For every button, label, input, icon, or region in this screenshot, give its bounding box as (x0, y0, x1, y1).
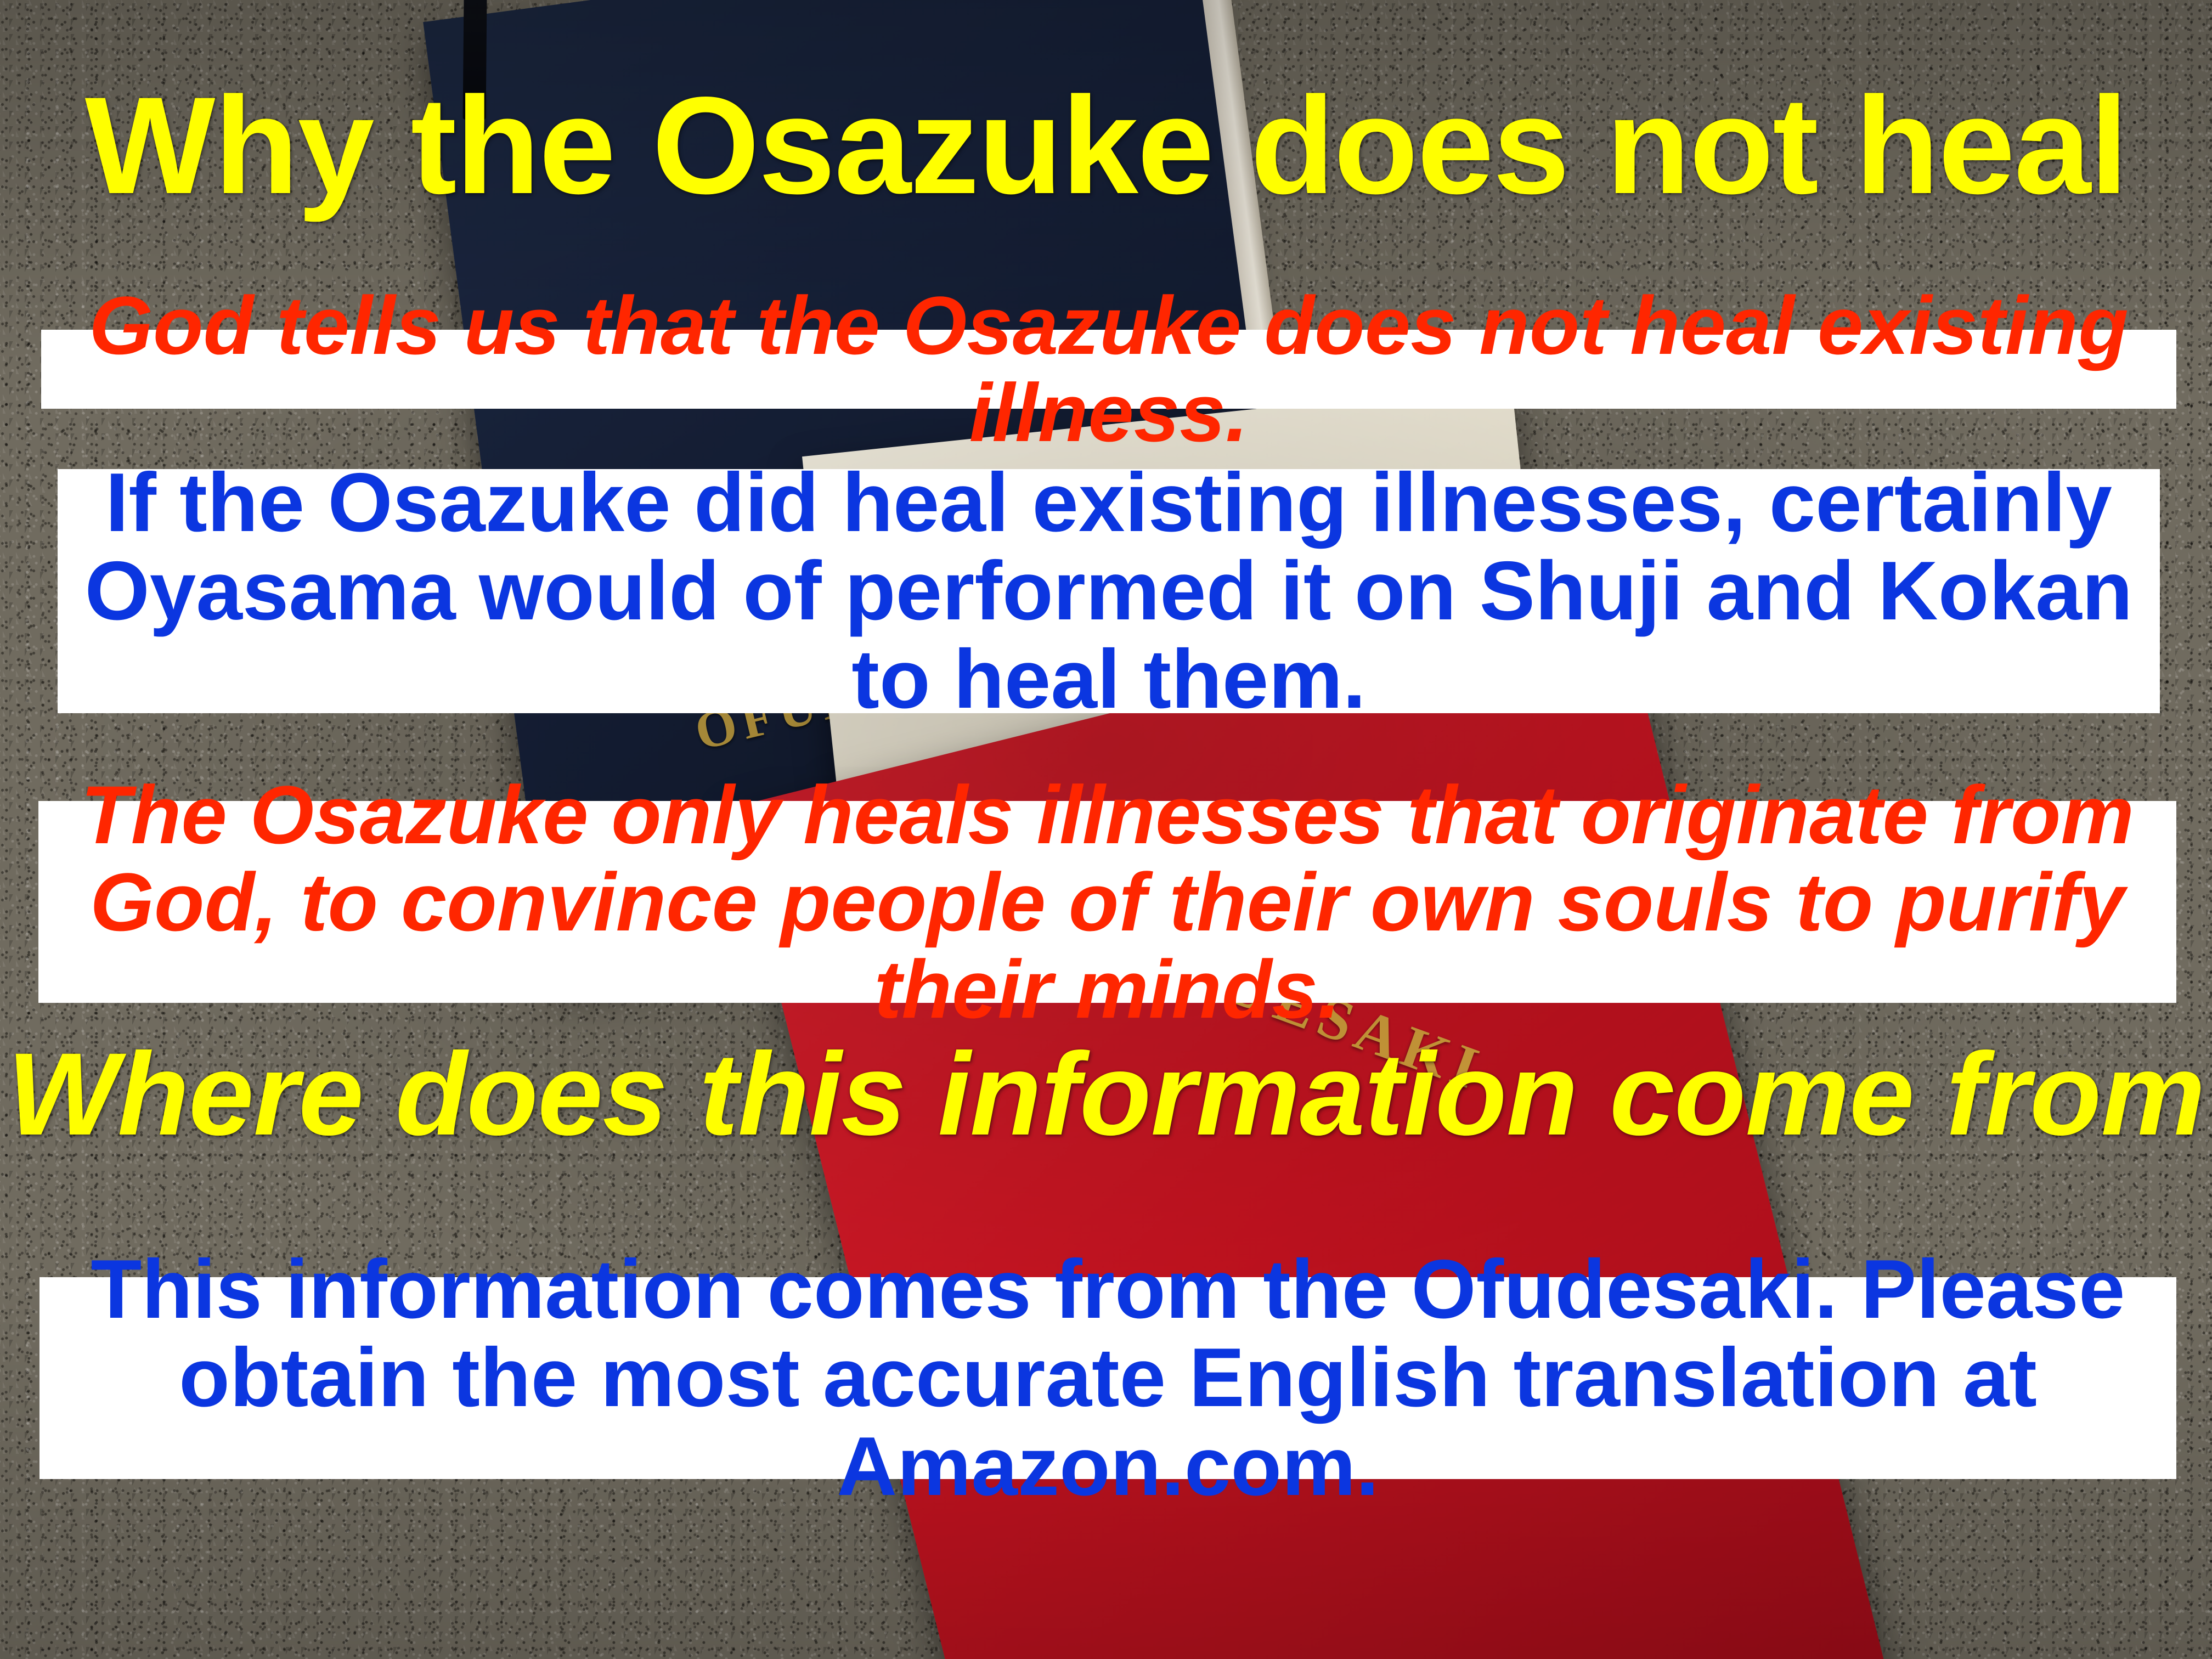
callout-2-text: If the Osazuke did heal existing illness… (74, 459, 2143, 724)
page-title: Why the Osazuke does not heal (0, 77, 2212, 215)
callout-box-1: God tells us that the Osazuke does not h… (41, 330, 2176, 409)
callout-box-3: The Osazuke only heals illnesses that or… (38, 801, 2176, 1003)
callout-1-text: God tells us that the Osazuke does not h… (55, 282, 2162, 456)
callout-3-text: The Osazuke only heals illnesses that or… (53, 771, 2162, 1033)
callout-box-2: If the Osazuke did heal existing illness… (58, 469, 2160, 713)
callout-4-text: This information comes from the Ofudesak… (56, 1245, 2160, 1510)
slide-canvas: OFUDESAKI おふでさき OFUDESAKI Why the Osazuk… (0, 0, 2212, 1659)
callout-box-4: This information comes from the Ofudesak… (39, 1277, 2176, 1479)
section-question-heading: Where does this information come from (0, 1036, 2212, 1153)
